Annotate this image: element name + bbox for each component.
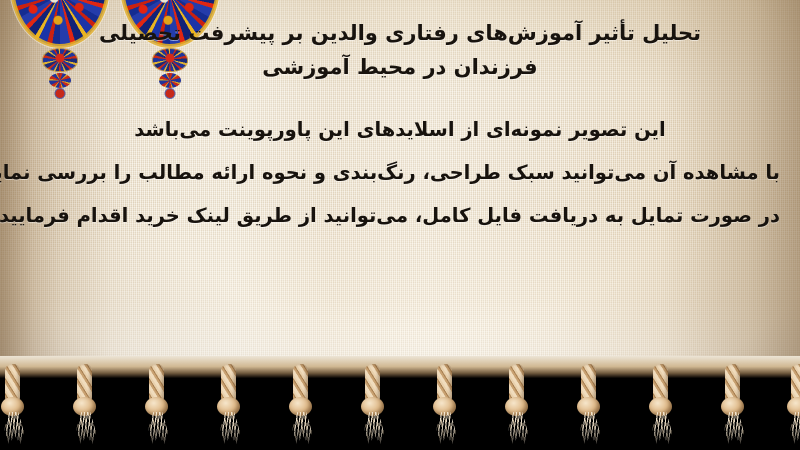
fringe-tassel: [428, 364, 462, 442]
carpet-selvedge-edge: [0, 356, 800, 378]
tassel-threads: [720, 412, 746, 444]
fringe-tassel: [572, 364, 606, 442]
body-line-2: با مشاهده آن می‌توانید سبک طراحی، رنگ‌بن…: [20, 151, 780, 194]
bottom-shadow-gradient: [0, 424, 800, 450]
tassel-threads: [576, 412, 602, 444]
fringe-tassel: [68, 364, 102, 442]
tassel-threads: [216, 412, 242, 444]
slide-text-layer: تحلیل تأثیر آموزش‌های رفتاری والدین بر پ…: [0, 0, 800, 372]
fringe-tassel: [644, 364, 678, 442]
fringe-tassel: [284, 364, 318, 442]
tassel-threads: [432, 412, 458, 444]
tassel-threads: [72, 412, 98, 444]
carpet-fringe-zone: [0, 356, 800, 450]
fringe-tassel: [0, 364, 30, 442]
body-line-3: در صورت تمایل به دریافت فایل کامل، می‌تو…: [20, 194, 780, 237]
body-line-1: این تصویر نمونه‌ای از اسلایدهای این پاور…: [20, 108, 780, 151]
fringe-tassel: [356, 364, 390, 442]
slide-title-line-1: تحلیل تأثیر آموزش‌های رفتاری والدین بر پ…: [20, 16, 780, 50]
fringe-tassel: [500, 364, 534, 442]
tassel-threads: [786, 412, 800, 444]
fringe-tassel: [140, 364, 174, 442]
fringe-tassel: [782, 364, 800, 442]
tassel-threads: [648, 412, 674, 444]
slide-body-text: این تصویر نمونه‌ای از اسلایدهای این پاور…: [20, 108, 780, 237]
slide-title: تحلیل تأثیر آموزش‌های رفتاری والدین بر پ…: [20, 16, 780, 84]
fringe-tassel: [716, 364, 750, 442]
slide-title-line-2: فرزندان در محیط آموزشی: [20, 50, 780, 84]
tassel-threads: [360, 412, 386, 444]
fringe-tassel: [212, 364, 246, 442]
tassel-threads: [504, 412, 530, 444]
powerpoint-slide: تحلیل تأثیر آموزش‌های رفتاری والدین بر پ…: [0, 0, 800, 450]
tassel-threads: [144, 412, 170, 444]
tassel-threads: [0, 412, 26, 444]
tassel-threads: [288, 412, 314, 444]
